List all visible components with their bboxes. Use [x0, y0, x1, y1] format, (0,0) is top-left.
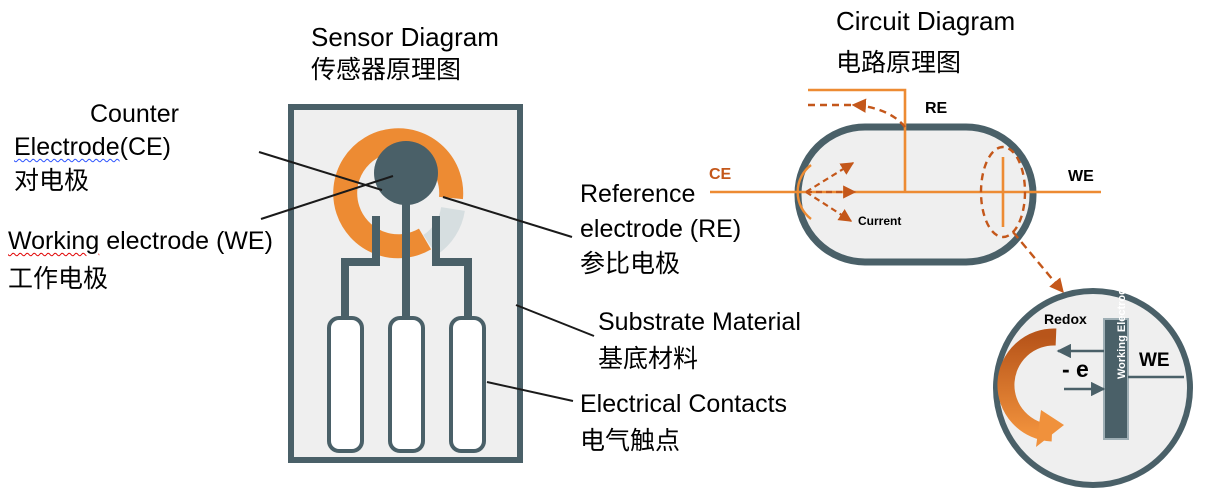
circuit-current-label: Current: [858, 214, 901, 228]
electrical-contacts-label-en: Electrical Contacts: [580, 390, 787, 420]
counter-electrode-word: Electrode: [14, 133, 120, 161]
redox-working-electrode-bar-label: Working Electrode: [1116, 282, 1129, 379]
reference-electrode-label-line2: electrode (RE): [580, 215, 741, 245]
circuit-we-label: WE: [1068, 168, 1094, 187]
contact-pad-center: [390, 318, 423, 451]
working-electrode-word: Working: [8, 227, 99, 255]
circuit-re-label: RE: [925, 100, 947, 119]
counter-electrode-label-cn: 对电极: [14, 167, 89, 197]
reference-electrode-label-line1: Reference: [580, 180, 695, 210]
counter-electrode-label-line2: Electrode(CE): [14, 133, 171, 163]
counter-electrode-label-line1: Counter: [90, 100, 179, 130]
circuit-diagram-title-cn: 电路原理图: [836, 49, 961, 79]
working-electrode-rest: electrode (WE): [99, 227, 273, 255]
working-electrode-disc: [374, 141, 438, 205]
electrical-contacts-label-cn: 电气触点: [580, 427, 680, 457]
redox-electron-label: - e: [1062, 356, 1089, 383]
redox-label: Redox: [1044, 311, 1087, 328]
leader-line-substrate: [516, 305, 594, 336]
counter-electrode-abbrev: (CE): [120, 133, 171, 161]
sensor-diagram-title-en: Sensor Diagram: [311, 22, 499, 53]
working-electrode-label-cn: 工作电极: [8, 265, 108, 295]
substrate-material-label-cn: 基底材料: [598, 345, 698, 375]
sensor-diagram-title-cn: 传感器原理图: [311, 56, 461, 86]
substrate-material-label-en: Substrate Material: [598, 308, 801, 338]
circuit-ce-label: CE: [709, 166, 731, 185]
zoom-connector-dashed-arrow: [1013, 232, 1063, 292]
circuit-diagram-title-en: Circuit Diagram: [836, 6, 1015, 37]
contact-pad-left: [329, 318, 362, 451]
contact-pad-right: [451, 318, 484, 451]
redox-we-label: WE: [1139, 350, 1170, 372]
working-electrode-label-en: Working electrode (WE): [8, 227, 273, 257]
reference-electrode-label-cn: 参比电极: [580, 250, 680, 280]
